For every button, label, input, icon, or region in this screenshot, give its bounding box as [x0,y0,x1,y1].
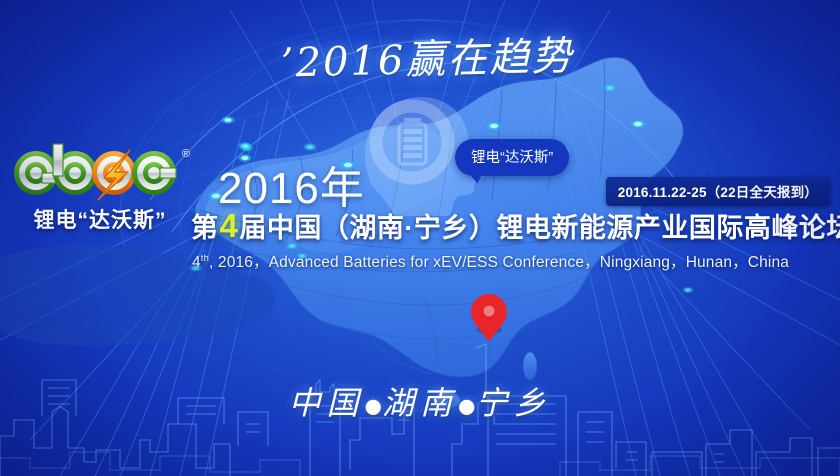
title-suffix: 届中国（湖南·宁乡）锂电新能源产业国际高峰论坛 [239,206,840,245]
abec-logo[interactable]: ® 锂电“达沃斯” [12,142,188,234]
event-date-badge: 2016.11.22-25（22日全天报到） [606,177,830,206]
title-en-rest: , 2016，Advanced Batteries for xEV/ESS Co… [209,254,789,271]
separator-dot-icon-2: ● [458,394,475,418]
location-city: 宁乡 [475,384,551,422]
edition-number: 4 [219,207,240,245]
separator-dot-icon: ● [365,394,382,418]
event-location-footer: 中国●湖南●宁乡 [0,378,840,424]
logo-subtitle: 锂电“达沃斯” [12,204,188,234]
location-province: 湖南 [382,384,458,422]
poster-canvas: ’2016赢在趋势 [0,0,840,476]
abec-wordmark [12,142,188,202]
conference-title-cn: 第4届中国（湖南·宁乡）锂电新能源产业国际高峰论坛 [191,206,840,245]
conference-title-en: 4th, 2016，Advanced Batteries for xEV/ESS… [192,250,789,272]
speech-bubble-label: 锂电“达沃斯” [455,139,569,176]
title-en-ordinal: th [201,253,209,264]
location-country: 中国 [289,384,365,422]
title-en-number: 4 [192,254,201,271]
page-title: ’2016赢在趋势 [261,22,592,90]
registered-trademark-icon: ® [182,148,190,160]
title-prefix: 第 [191,206,219,245]
